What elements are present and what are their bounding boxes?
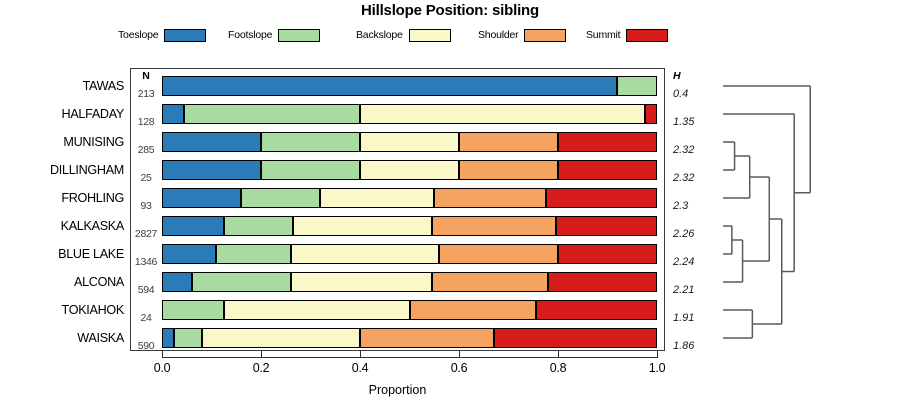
bar-row (162, 216, 657, 236)
x-tick-label: 0.6 (451, 361, 467, 375)
bar-row (162, 132, 657, 152)
bar-segment-toeslope (162, 132, 261, 152)
bar-segment-shoulder (432, 216, 556, 236)
bar-segment-footslope (261, 160, 360, 180)
x-tick-label: 0.4 (352, 361, 368, 375)
bar-segment-toeslope (162, 272, 192, 292)
bar-row (162, 76, 657, 96)
bar-segment-backslope (224, 300, 410, 320)
bar-segment-footslope (216, 244, 290, 264)
bar-segment-summit (558, 132, 657, 152)
bar-row (162, 104, 657, 124)
bar-segment-footslope (241, 188, 320, 208)
bar-row (162, 244, 657, 264)
x-axis-title: Proportion (130, 383, 665, 397)
bar-segment-footslope (261, 132, 360, 152)
bar-segment-backslope (360, 160, 459, 180)
bar-row (162, 328, 657, 348)
bar-segment-toeslope (162, 216, 224, 236)
bar-segment-backslope (202, 328, 360, 348)
bar-row (162, 160, 657, 180)
bar-segment-summit (546, 188, 657, 208)
bar-segment-footslope (162, 300, 224, 320)
bar-segment-summit (494, 328, 657, 348)
bar-segment-shoulder (360, 328, 494, 348)
bar-segment-toeslope (162, 160, 261, 180)
bar-segment-toeslope (162, 244, 216, 264)
bar-segment-toeslope (162, 328, 174, 348)
x-tick-mark (261, 351, 262, 358)
bar-segment-summit (548, 272, 657, 292)
bar-segment-summit (645, 104, 657, 124)
bar-segment-toeslope (162, 104, 184, 124)
dendrogram (700, 60, 900, 360)
bar-segment-summit (558, 244, 657, 264)
x-tick-label: 0.2 (253, 361, 269, 375)
bar-segment-backslope (360, 132, 459, 152)
bar-segment-footslope (174, 328, 201, 348)
x-axis: Proportion 0.00.20.40.60.81.0 (130, 351, 665, 411)
bar-segment-toeslope (162, 76, 617, 96)
x-tick-mark (459, 351, 460, 358)
bar-segment-backslope (291, 272, 432, 292)
bar-row (162, 272, 657, 292)
bar-segment-summit (558, 160, 657, 180)
bar-segment-footslope (192, 272, 291, 292)
bar-segment-toeslope (162, 188, 241, 208)
dendrogram-svg (700, 60, 900, 360)
bar-segment-backslope (360, 104, 645, 124)
bar-segment-shoulder (459, 132, 558, 152)
bar-segment-shoulder (434, 188, 545, 208)
x-tick-mark (558, 351, 559, 358)
bar-segment-shoulder (459, 160, 558, 180)
bar-segment-backslope (291, 244, 440, 264)
bar-segment-shoulder (439, 244, 558, 264)
x-tick-mark (360, 351, 361, 358)
x-tick-label: 0.0 (154, 361, 170, 375)
x-tick-mark (162, 351, 163, 358)
bar-segment-footslope (617, 76, 657, 96)
x-tick-label: 0.8 (550, 361, 566, 375)
x-axis-line (162, 357, 657, 358)
hillslope-position-chart: Hillslope Position: sibling ToeslopeFoot… (0, 0, 900, 420)
bar-row (162, 300, 657, 320)
x-tick-mark (657, 351, 658, 358)
bar-segment-backslope (293, 216, 432, 236)
bar-segment-summit (556, 216, 657, 236)
bar-segment-footslope (224, 216, 293, 236)
x-tick-label: 1.0 (649, 361, 665, 375)
bar-segment-shoulder (410, 300, 536, 320)
bar-segment-backslope (320, 188, 434, 208)
bar-segment-footslope (184, 104, 360, 124)
bar-row (162, 188, 657, 208)
bar-segment-shoulder (432, 272, 548, 292)
bar-segment-summit (536, 300, 657, 320)
